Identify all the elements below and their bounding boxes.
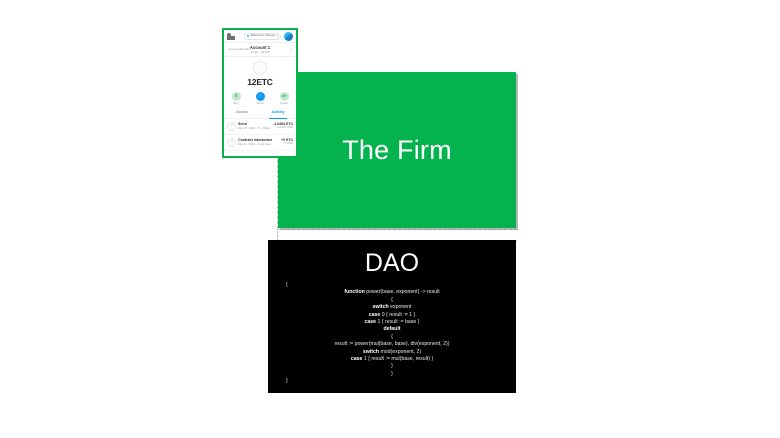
transaction-subtitle: Mar 11, 2023 · Confirmed	[238, 143, 279, 147]
balance-section: 12ETC	[224, 57, 296, 87]
buy-icon: $	[232, 92, 241, 101]
transaction-fiat: -0.0439 USD	[273, 126, 293, 130]
account-identity: Account 1 0x3fa...28792	[224, 45, 296, 54]
code-text: 0 { result := 1 }	[380, 312, 415, 318]
avatar[interactable]	[284, 32, 293, 41]
transaction-fiat: 0 USD	[281, 142, 293, 146]
code-line: case 0 { result := 1 }	[268, 312, 516, 319]
balance-amount: 12ETC	[224, 78, 296, 87]
code-text: {	[286, 282, 288, 288]
transaction-list: ↗SendMar 15, 2023 · To: 0x5e1...4b3fa-2.…	[224, 119, 296, 151]
more-vertical-icon[interactable]: ⋮	[289, 48, 293, 52]
code-text: 1 { result := base }	[376, 319, 419, 325]
token-circle-icon	[253, 61, 267, 75]
code-text: mod(exponent, 2)	[379, 349, 421, 355]
diagram-canvas: The Firm DAO {function power(base, expon…	[0, 0, 780, 438]
chevron-down-icon: ▾	[276, 35, 278, 38]
code-line: {	[268, 282, 516, 289]
code-text: exponent	[389, 304, 412, 310]
transaction-subtitle: Mar 15, 2023 · To: 0x5e1...4b3fa	[238, 127, 271, 131]
send-icon: ↑	[256, 92, 265, 101]
firm-panel: The Firm	[278, 72, 516, 228]
dao-panel-title: DAO	[268, 251, 516, 276]
transaction-values: -2.0483 ETC-0.0439 USD	[273, 122, 293, 130]
wallet-tabs: AssetsActivity	[224, 111, 296, 119]
connector-firm-bottom-edge	[277, 229, 517, 230]
action-button-swap[interactable]: ⇄Swap	[277, 92, 292, 106]
action-button-send[interactable]: ↑Send	[253, 92, 268, 106]
action-label: Send	[253, 102, 268, 105]
swap-icon: ⇄	[280, 92, 289, 101]
transaction-details: SendMar 15, 2023 · To: 0x5e1...4b3fa	[238, 122, 271, 130]
code-line: default	[268, 326, 516, 333]
account-header: ‹ Account Details Account 1 0x3fa...2879…	[224, 43, 296, 57]
code-line: switch mod(exponent, 2)	[268, 349, 516, 356]
transaction-row[interactable]: ↗SendMar 15, 2023 · To: 0x5e1...4b3fa-2.…	[224, 119, 296, 135]
code-line: }	[268, 378, 516, 385]
code-line: case 1 { result := mul(base, result) }	[268, 356, 516, 363]
code-text: }	[286, 378, 288, 384]
wallet-logo-icon	[227, 33, 235, 40]
action-button-buy[interactable]: $Buy	[229, 92, 244, 106]
code-line: {	[268, 297, 516, 304]
code-keyword: case	[351, 356, 363, 362]
firm-panel-title: The Firm	[342, 137, 452, 164]
transaction-values: +0 ETC0 USD	[281, 138, 293, 146]
tab-activity[interactable]: Activity	[260, 111, 296, 118]
code-line: switch exponent	[268, 304, 516, 311]
code-line: }	[268, 363, 516, 370]
code-keyword: case	[365, 319, 377, 325]
wallet-topbar: Ethereum Classic ▾	[224, 30, 296, 43]
action-label: Swap	[277, 102, 292, 105]
code-text: power(base, exponent) -> result	[365, 289, 440, 295]
wallet-phone-mockup: Ethereum Classic ▾ ‹ Account Details Acc…	[222, 28, 298, 158]
send-arrow-icon: ↗	[227, 122, 236, 131]
network-label: Ethereum Classic	[251, 34, 275, 37]
code-keyword: case	[369, 312, 381, 318]
code-keyword: default	[383, 326, 400, 332]
action-buttons: $Buy↑Send⇄Swap	[224, 92, 296, 106]
dao-panel: DAO {function power(base, exponent) -> r…	[268, 240, 516, 393]
code-text: }	[391, 363, 393, 369]
code-text: {	[391, 334, 393, 340]
contract-icon: ⬡	[227, 138, 236, 147]
network-selector[interactable]: Ethereum Classic ▾	[244, 33, 281, 40]
network-status-dot	[247, 35, 250, 38]
account-address[interactable]: 0x3fa...28792	[224, 50, 296, 54]
code-text: 1 { result := mul(base, result) }	[362, 356, 433, 362]
code-line: {	[268, 334, 516, 341]
code-line: }	[268, 371, 516, 378]
code-line: result := power(mul(base, base), div(exp…	[268, 341, 516, 348]
code-line: function power(base, exponent) -> result	[268, 289, 516, 296]
code-text: }	[391, 371, 393, 377]
tab-assets[interactable]: Assets	[224, 111, 260, 118]
code-line: case 1 { result := base }	[268, 319, 516, 326]
dao-code-block: {function power(base, exponent) -> resul…	[268, 282, 516, 386]
code-keyword: switch	[363, 349, 379, 355]
transaction-details: Contract InteractionMar 11, 2023 · Confi…	[238, 138, 279, 146]
code-text: result := power(mul(base, base), div(exp…	[335, 341, 450, 347]
code-keyword: switch	[373, 304, 389, 310]
code-text: {	[391, 297, 393, 303]
action-label: Buy	[229, 102, 244, 105]
transaction-row[interactable]: ⬡Contract InteractionMar 11, 2023 · Conf…	[224, 135, 296, 151]
code-keyword: function	[344, 289, 364, 295]
